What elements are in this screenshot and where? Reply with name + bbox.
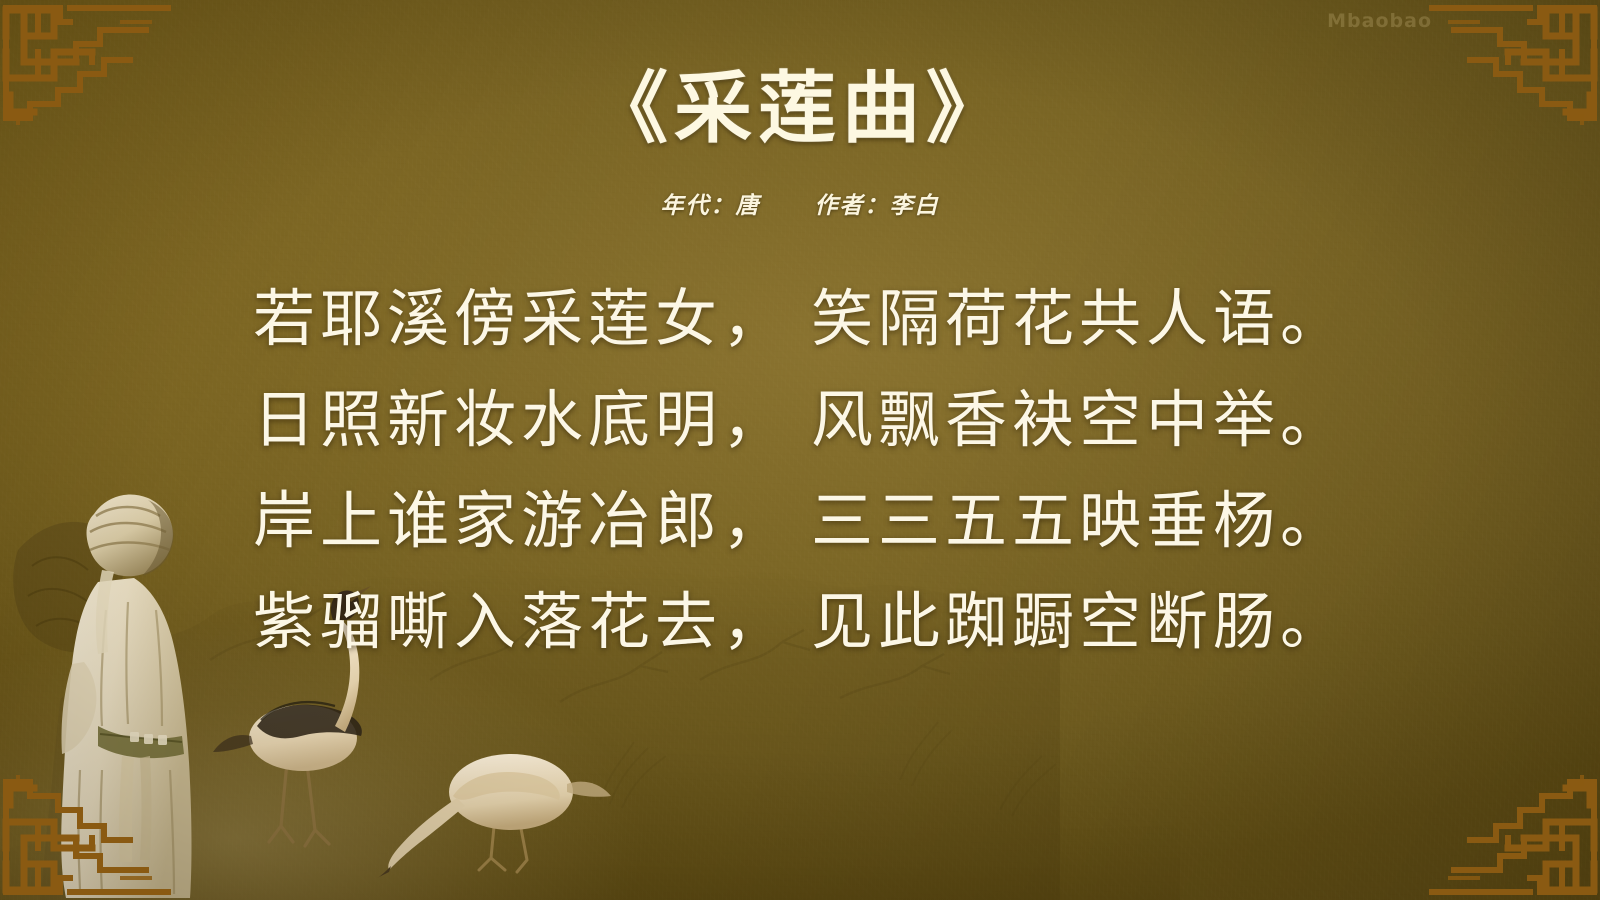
poem-slide: Mbaobao 《采莲曲》 年代：唐 作者：李白 若耶溪傍采莲女，笑隔荷花共人语… — [0, 0, 1600, 900]
poem-line-second: 见此踟蹰空断肠。 — [811, 585, 1347, 658]
poem-line-first: 岸上谁家游冶郎， — [253, 484, 789, 557]
poem-line: 日照新妆水底明，风飘香袂空中举。 — [0, 369, 1600, 470]
page-title: 《采莲曲》 — [0, 68, 1600, 150]
author-label: 作者：李白 — [815, 193, 940, 219]
poem-body: 若耶溪傍采莲女，笑隔荷花共人语。 日照新妆水底明，风飘香袂空中举。 岸上谁家游冶… — [0, 268, 1600, 672]
poem-line-second: 三三五五映垂杨。 — [811, 484, 1347, 557]
poem-line: 岸上谁家游冶郎，三三五五映垂杨。 — [0, 470, 1600, 571]
poem-line-first: 若耶溪傍采莲女， — [253, 282, 789, 355]
poem-line-second: 笑隔荷花共人语。 — [811, 282, 1347, 355]
era-label: 年代：唐 — [660, 193, 760, 219]
poem-line: 若耶溪傍采莲女，笑隔荷花共人语。 — [0, 268, 1600, 369]
poem-line: 紫骝嘶入落花去，见此踟蹰空断肠。 — [0, 571, 1600, 672]
poem-line-first: 紫骝嘶入落花去， — [253, 585, 789, 658]
poem-line-second: 风飘香袂空中举。 — [811, 383, 1347, 456]
poem-metadata: 年代：唐 作者：李白 — [0, 186, 1600, 220]
poem-line-first: 日照新妆水底明， — [253, 383, 789, 456]
